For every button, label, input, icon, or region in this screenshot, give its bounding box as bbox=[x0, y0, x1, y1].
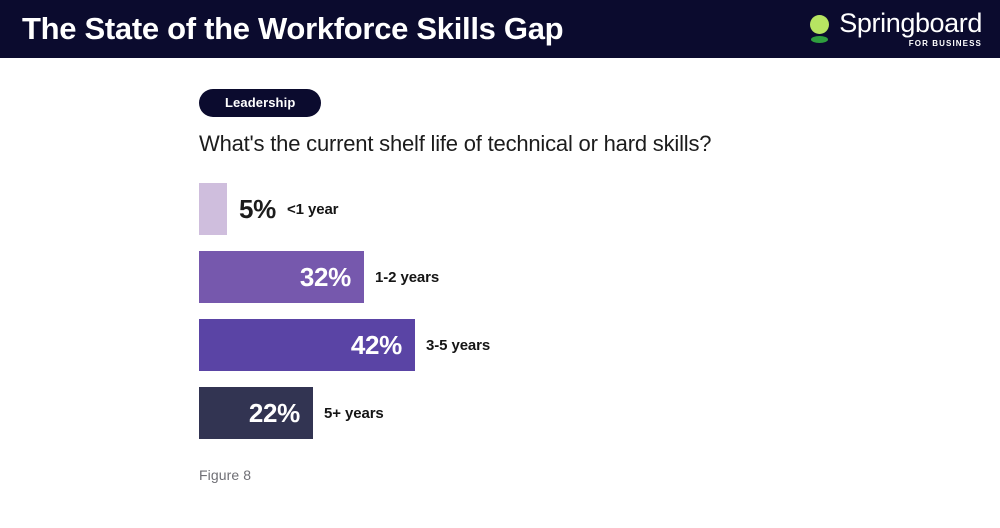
bar-shape bbox=[199, 183, 227, 235]
bar-row: 5% <1 year bbox=[199, 183, 989, 235]
logo-dot-shape bbox=[810, 15, 829, 34]
logo-text: Springboard FOR BUSINESS bbox=[839, 10, 982, 48]
springboard-sprout-icon bbox=[809, 12, 831, 46]
bar-category-label: <1 year bbox=[287, 202, 338, 217]
springboard-logo: Springboard FOR BUSINESS bbox=[809, 10, 982, 48]
bar-value-label: 42% bbox=[351, 332, 415, 358]
logo-wordmark: Springboard bbox=[839, 10, 982, 37]
page-title: The State of the Workforce Skills Gap bbox=[22, 13, 563, 44]
bar-category-label: 1-2 years bbox=[375, 270, 439, 285]
bar-value-label: 32% bbox=[300, 264, 364, 290]
bar-category-label: 3-5 years bbox=[426, 338, 490, 353]
logo-subtitle: FOR BUSINESS bbox=[909, 40, 982, 48]
bar-value-label: 22% bbox=[249, 400, 313, 426]
logo-base-shape bbox=[811, 36, 828, 43]
chart-question-title: What's the current shelf life of technic… bbox=[199, 131, 989, 157]
bar-row: 22% 5+ years bbox=[199, 387, 989, 439]
bar-shape: 42% bbox=[199, 319, 415, 371]
bar-row: 42% 3-5 years bbox=[199, 319, 989, 371]
bar-category-label: 5+ years bbox=[324, 406, 384, 421]
bar-shape: 22% bbox=[199, 387, 313, 439]
category-badge: Leadership bbox=[199, 89, 321, 117]
bar-value-label: 5% bbox=[239, 196, 276, 222]
bar-chart: 5% <1 year 32% 1-2 years 42% 3-5 years 2… bbox=[199, 183, 989, 439]
bar-shape: 32% bbox=[199, 251, 364, 303]
bar-row: 32% 1-2 years bbox=[199, 251, 989, 303]
page-header: The State of the Workforce Skills Gap Sp… bbox=[0, 0, 1000, 58]
figure-caption: Figure 8 bbox=[199, 467, 989, 483]
content-area: Leadership What's the current shelf life… bbox=[199, 58, 989, 483]
